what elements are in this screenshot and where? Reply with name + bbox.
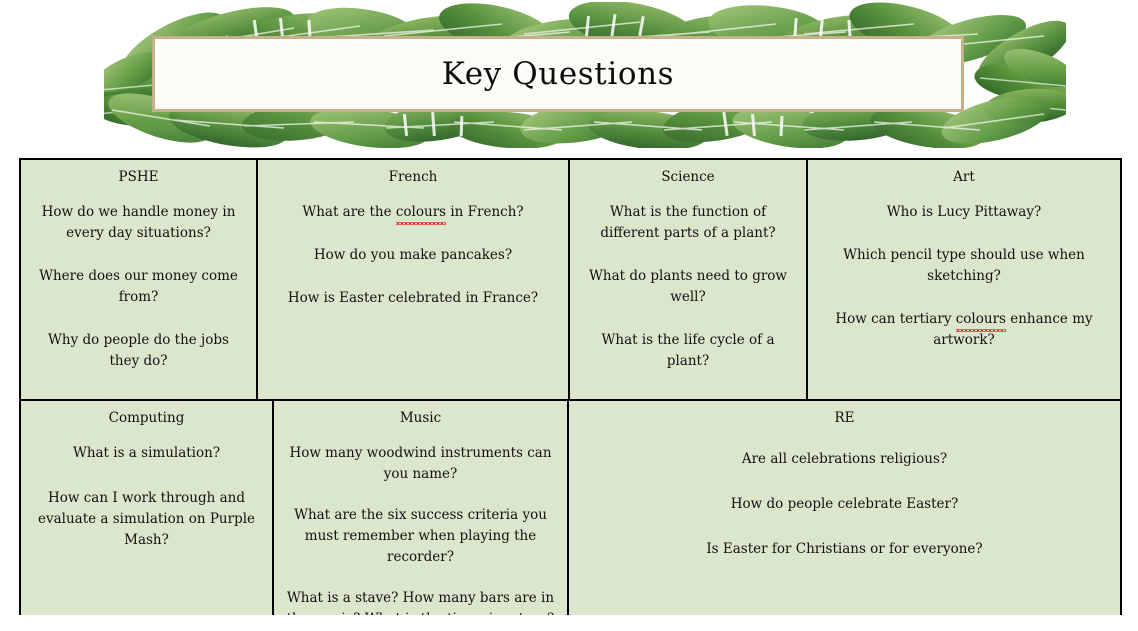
question-item: What is a simulation? — [29, 443, 264, 464]
question-list-music: How many woodwind instruments can you na… — [282, 443, 559, 615]
spellcheck-flagged-word: colours — [956, 309, 1006, 330]
subject-title-computing: Computing — [29, 409, 264, 427]
spellcheck-flagged-word: colours — [396, 202, 446, 223]
question-item: How do people celebrate Easter? — [577, 494, 1112, 515]
subject-cell-french: French What are the colours in French? H… — [256, 160, 568, 399]
subject-cell-music: Music How many woodwind instruments can … — [272, 401, 567, 615]
question-item: What is the function of different parts … — [578, 202, 798, 244]
subject-cell-pshe: PSHE How do we handle money in every day… — [21, 160, 256, 399]
subject-title-re: RE — [577, 409, 1112, 427]
question-list-computing: What is a simulation? How can I work thr… — [29, 443, 264, 551]
subject-title-art: Art — [816, 168, 1112, 186]
question-item: How can I work through and evaluate a si… — [29, 488, 264, 551]
question-item: How many woodwind instruments can you na… — [282, 443, 559, 485]
question-text-post: in French? — [446, 204, 524, 220]
question-item: Is Easter for Christians or for everyone… — [577, 539, 1112, 560]
question-item: How can tertiary colours enhance my artw… — [816, 309, 1112, 351]
question-text-pre: How can tertiary — [835, 311, 955, 327]
question-item: What do plants need to grow well? — [578, 266, 798, 308]
subject-cell-science: Science What is the function of differen… — [568, 160, 806, 399]
question-list-science: What is the function of different parts … — [578, 202, 798, 372]
question-list-re: Are all celebrations religious? How do p… — [577, 449, 1112, 560]
question-item: How do we handle money in every day situ… — [29, 202, 248, 244]
table-row: Computing What is a simulation? How can … — [21, 401, 1120, 615]
subject-title-music: Music — [282, 409, 559, 427]
question-item: Who is Lucy Pittaway? — [816, 202, 1112, 223]
question-item: What is a stave? How many bars are in th… — [282, 588, 559, 615]
question-item: What are the colours in French? — [266, 202, 560, 223]
question-item: What are the six success criteria you mu… — [282, 505, 559, 568]
page-title: Key Questions — [152, 36, 964, 112]
subject-cell-computing: Computing What is a simulation? How can … — [21, 401, 272, 615]
table-row: PSHE How do we handle money in every day… — [21, 160, 1120, 401]
question-item: What is the life cycle of a plant? — [578, 330, 798, 372]
question-item: Which pencil type should use when sketch… — [816, 245, 1112, 287]
question-item: Are all celebrations religious? — [577, 449, 1112, 470]
subject-cell-re: RE Are all celebrations religious? How d… — [567, 401, 1120, 615]
question-item: How is Easter celebrated in France? — [266, 288, 560, 309]
header-banner: Key Questions — [0, 0, 1138, 152]
key-questions-table: PSHE How do we handle money in every day… — [19, 158, 1122, 615]
question-list-art: Who is Lucy Pittaway? Which pencil type … — [816, 202, 1112, 351]
subject-title-pshe: PSHE — [29, 168, 248, 186]
question-item: How do you make pancakes? — [266, 245, 560, 266]
question-item: Where does our money come from? — [29, 266, 248, 308]
subject-cell-art: Art Who is Lucy Pittaway? Which pencil t… — [806, 160, 1120, 399]
question-text-pre: What are the — [302, 204, 396, 220]
question-list-french: What are the colours in French? How do y… — [266, 202, 560, 309]
subject-title-science: Science — [578, 168, 798, 186]
subject-title-french: French — [266, 168, 560, 186]
question-list-pshe: How do we handle money in every day situ… — [29, 202, 248, 372]
question-item: Why do people do the jobs they do? — [29, 330, 248, 372]
